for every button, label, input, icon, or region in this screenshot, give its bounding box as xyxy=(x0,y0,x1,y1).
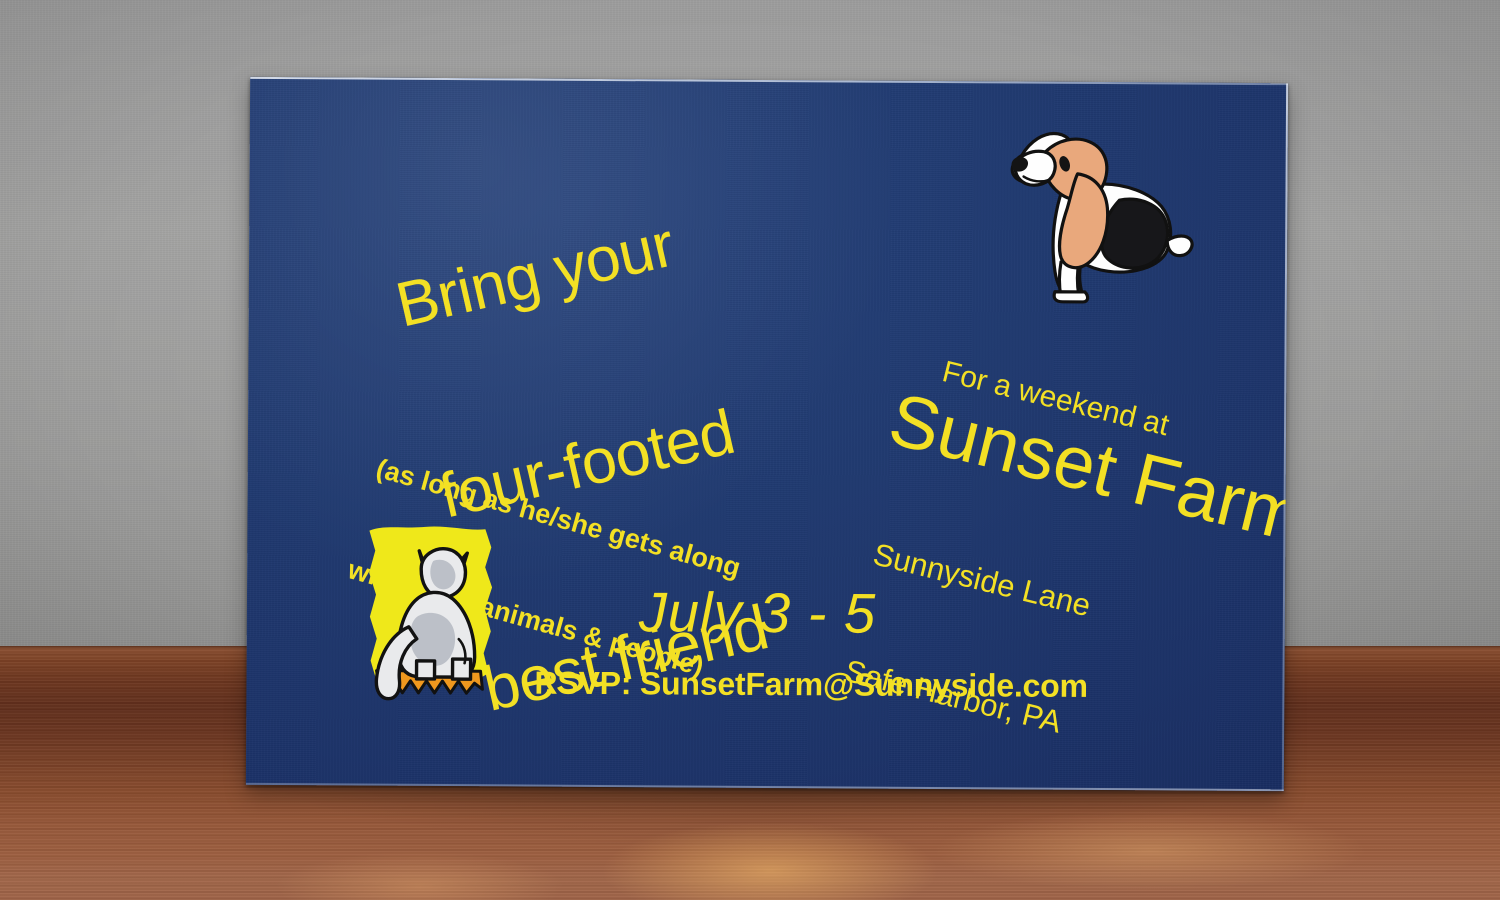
headline-line-1: Bring your xyxy=(390,208,696,337)
venue-street: Sunnyside Lane xyxy=(869,534,1095,626)
event-dates: July 3 - 5 xyxy=(639,583,877,642)
photo-scene: Bring your four-footed best friend (as l… xyxy=(0,0,1500,900)
invitation-card[interactable]: Bring your four-footed best friend (as l… xyxy=(246,77,1288,791)
cat-icon xyxy=(354,520,507,711)
basset-hound-icon xyxy=(1001,121,1202,312)
rsvp-line: RSVP: SunsetFarm@Sunnyside.com xyxy=(534,667,1088,703)
